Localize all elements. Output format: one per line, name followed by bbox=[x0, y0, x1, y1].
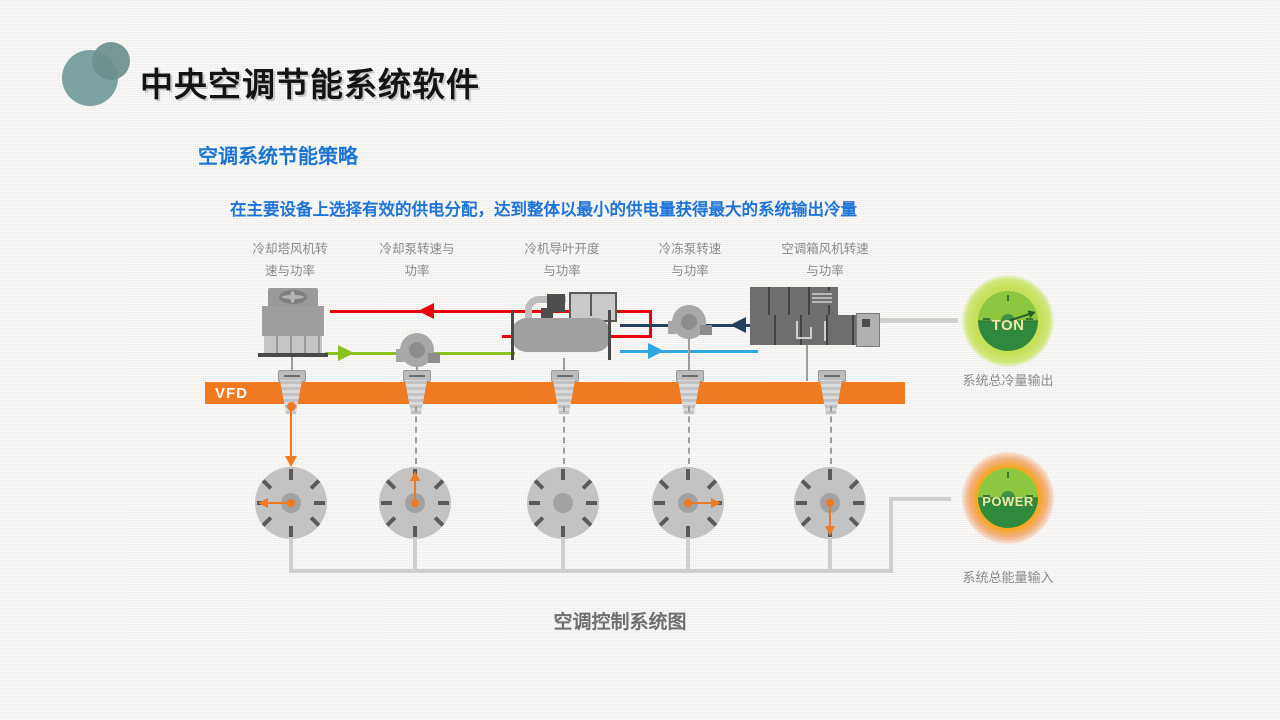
pump-outlet bbox=[700, 325, 712, 335]
chiller-end-plate-right bbox=[608, 310, 611, 360]
gauge-ton[interactable]: TON bbox=[962, 275, 1054, 367]
motor-needle-arrow-icon bbox=[825, 526, 835, 536]
equipment-label-line2: 功率 bbox=[352, 260, 482, 282]
gauge-power[interactable]: POWER bbox=[962, 452, 1054, 544]
ahu-coil-piping bbox=[794, 321, 838, 343]
chiller-compressor-motor bbox=[547, 294, 565, 312]
motor-needle-arrow-icon bbox=[711, 498, 721, 508]
arrow-chilled-return-icon bbox=[730, 317, 746, 333]
power-bus-riser-1 bbox=[289, 537, 293, 573]
equipment-label-chilled-pump: 冷冻泵转速 与功率 bbox=[625, 238, 755, 282]
app-logo bbox=[62, 42, 128, 108]
equipment-label-line1: 冷却泵转速与 bbox=[352, 238, 482, 260]
gauge-power-caption: 系统总能量输入 bbox=[908, 567, 1108, 586]
motor-center-dot bbox=[684, 499, 692, 507]
equipment-label-line2: 速与功率 bbox=[225, 260, 355, 282]
section-title: 空调系统节能策略 bbox=[198, 140, 358, 169]
motor-tick bbox=[289, 469, 293, 480]
arrow-chilled-supply-icon bbox=[648, 343, 664, 359]
motor-tick bbox=[561, 526, 565, 537]
power-bus-riser-to-gauge bbox=[889, 497, 893, 573]
equipment-label-condenser-pump: 冷却泵转速与 功率 bbox=[352, 238, 482, 282]
equipment-label-line1: 空调箱风机转速 bbox=[752, 238, 898, 260]
diagram-caption: 空调控制系统图 bbox=[440, 607, 800, 634]
vfd-label: VFD bbox=[215, 385, 248, 402]
drive-drop-line-2 bbox=[415, 406, 417, 464]
pump-inlet bbox=[396, 349, 404, 362]
motor-tick bbox=[796, 501, 807, 505]
equipment-label-line1: 冷机导叶开度 bbox=[497, 238, 627, 260]
pump-outlet bbox=[428, 353, 440, 363]
cooling-tower-body bbox=[262, 306, 324, 336]
arrow-condenser-return-icon bbox=[418, 303, 434, 319]
motor-4[interactable] bbox=[652, 467, 724, 539]
motor-1[interactable] bbox=[255, 467, 327, 539]
gauge-tick-top bbox=[1007, 472, 1009, 478]
power-bus-riser-4 bbox=[686, 537, 690, 573]
equipment-label-line1: 冷却塔风机转 bbox=[225, 238, 355, 260]
pump-hub bbox=[681, 314, 697, 330]
power-bus-to-gauge bbox=[889, 497, 951, 501]
motor-tick bbox=[686, 469, 690, 480]
equipment-label-chiller: 冷机导叶开度 与功率 bbox=[497, 238, 627, 282]
drive-drop-line-5 bbox=[830, 406, 832, 464]
motor-center-dot bbox=[826, 499, 834, 507]
equipment-label-line1: 冷冻泵转速 bbox=[625, 238, 755, 260]
pump-hub bbox=[409, 342, 425, 358]
cooling-tower-fan-icon bbox=[279, 290, 307, 304]
equipment-label-line2: 与功率 bbox=[497, 260, 627, 282]
drive-node-1 bbox=[287, 402, 296, 411]
power-bus-riser-5 bbox=[828, 537, 832, 573]
air-handling-unit-icon bbox=[750, 287, 878, 352]
equipment-label-cooling-tower: 冷却塔风机转 速与功率 bbox=[225, 238, 355, 282]
ahu-fan-section bbox=[856, 313, 880, 347]
drive-drop-line-3 bbox=[563, 406, 565, 464]
motor-tick bbox=[438, 501, 449, 505]
power-bus-riser-2 bbox=[413, 537, 417, 573]
motor-center-dot bbox=[287, 499, 295, 507]
motor-3[interactable] bbox=[527, 467, 599, 539]
line-cooling-output bbox=[878, 318, 958, 323]
motor-tick bbox=[289, 526, 293, 537]
motor-center-dot bbox=[411, 499, 419, 507]
motor-tick bbox=[828, 469, 832, 480]
chiller-end-plate-left bbox=[511, 310, 514, 360]
page-title: 中央空调节能系统软件 bbox=[140, 58, 480, 106]
section-lead-text: 在主要设备上选择有效的供电分配，达到整体以最小的供电量获得最大的系统输出冷量 bbox=[230, 196, 857, 220]
gauge-ton-label: TON bbox=[978, 317, 1038, 334]
drive-drop-arrow-1-icon bbox=[285, 456, 297, 467]
drive-drop-line-4 bbox=[688, 406, 690, 464]
cooling-tower-icon bbox=[262, 288, 324, 358]
ahu-grille-icon bbox=[812, 291, 832, 305]
ahu-stem bbox=[806, 345, 808, 381]
power-bus-riser-3 bbox=[561, 537, 565, 573]
motor-needle-arrow-icon bbox=[410, 471, 420, 481]
motor-tick bbox=[314, 501, 325, 505]
motor-tick bbox=[686, 526, 690, 537]
equipment-label-ahu: 空调箱风机转速 与功率 bbox=[752, 238, 898, 282]
gauge-ton-caption: 系统总冷量输出 bbox=[908, 370, 1108, 389]
motor-2[interactable] bbox=[379, 467, 451, 539]
motor-tick bbox=[381, 501, 392, 505]
motor-tick bbox=[853, 501, 864, 505]
motor-hub bbox=[553, 493, 573, 513]
motor-5[interactable] bbox=[794, 467, 866, 539]
arrow-condenser-supply-icon bbox=[338, 345, 354, 361]
motor-tick bbox=[529, 501, 540, 505]
chiller-icon bbox=[503, 290, 621, 360]
motor-needle-arrow-icon bbox=[258, 498, 268, 508]
equipment-label-line2: 与功率 bbox=[625, 260, 755, 282]
gauge-tick-top bbox=[1007, 295, 1009, 301]
equipment-label-line2: 与功率 bbox=[752, 260, 898, 282]
motor-tick bbox=[586, 501, 597, 505]
power-bus-horizontal bbox=[289, 569, 893, 573]
pump-inlet bbox=[668, 321, 676, 334]
gauge-power-label: POWER bbox=[978, 494, 1038, 509]
motor-tick bbox=[561, 469, 565, 480]
logo-circle-small bbox=[92, 42, 130, 80]
slide-stage: 中央空调节能系统软件 空调系统节能策略 在主要设备上选择有效的供电分配，达到整体… bbox=[0, 0, 1280, 720]
motor-tick bbox=[413, 526, 417, 537]
chiller-shell bbox=[511, 318, 611, 352]
cooling-tower-louvers bbox=[264, 336, 322, 353]
cooling-tower-base bbox=[258, 353, 328, 357]
motor-tick bbox=[654, 501, 665, 505]
